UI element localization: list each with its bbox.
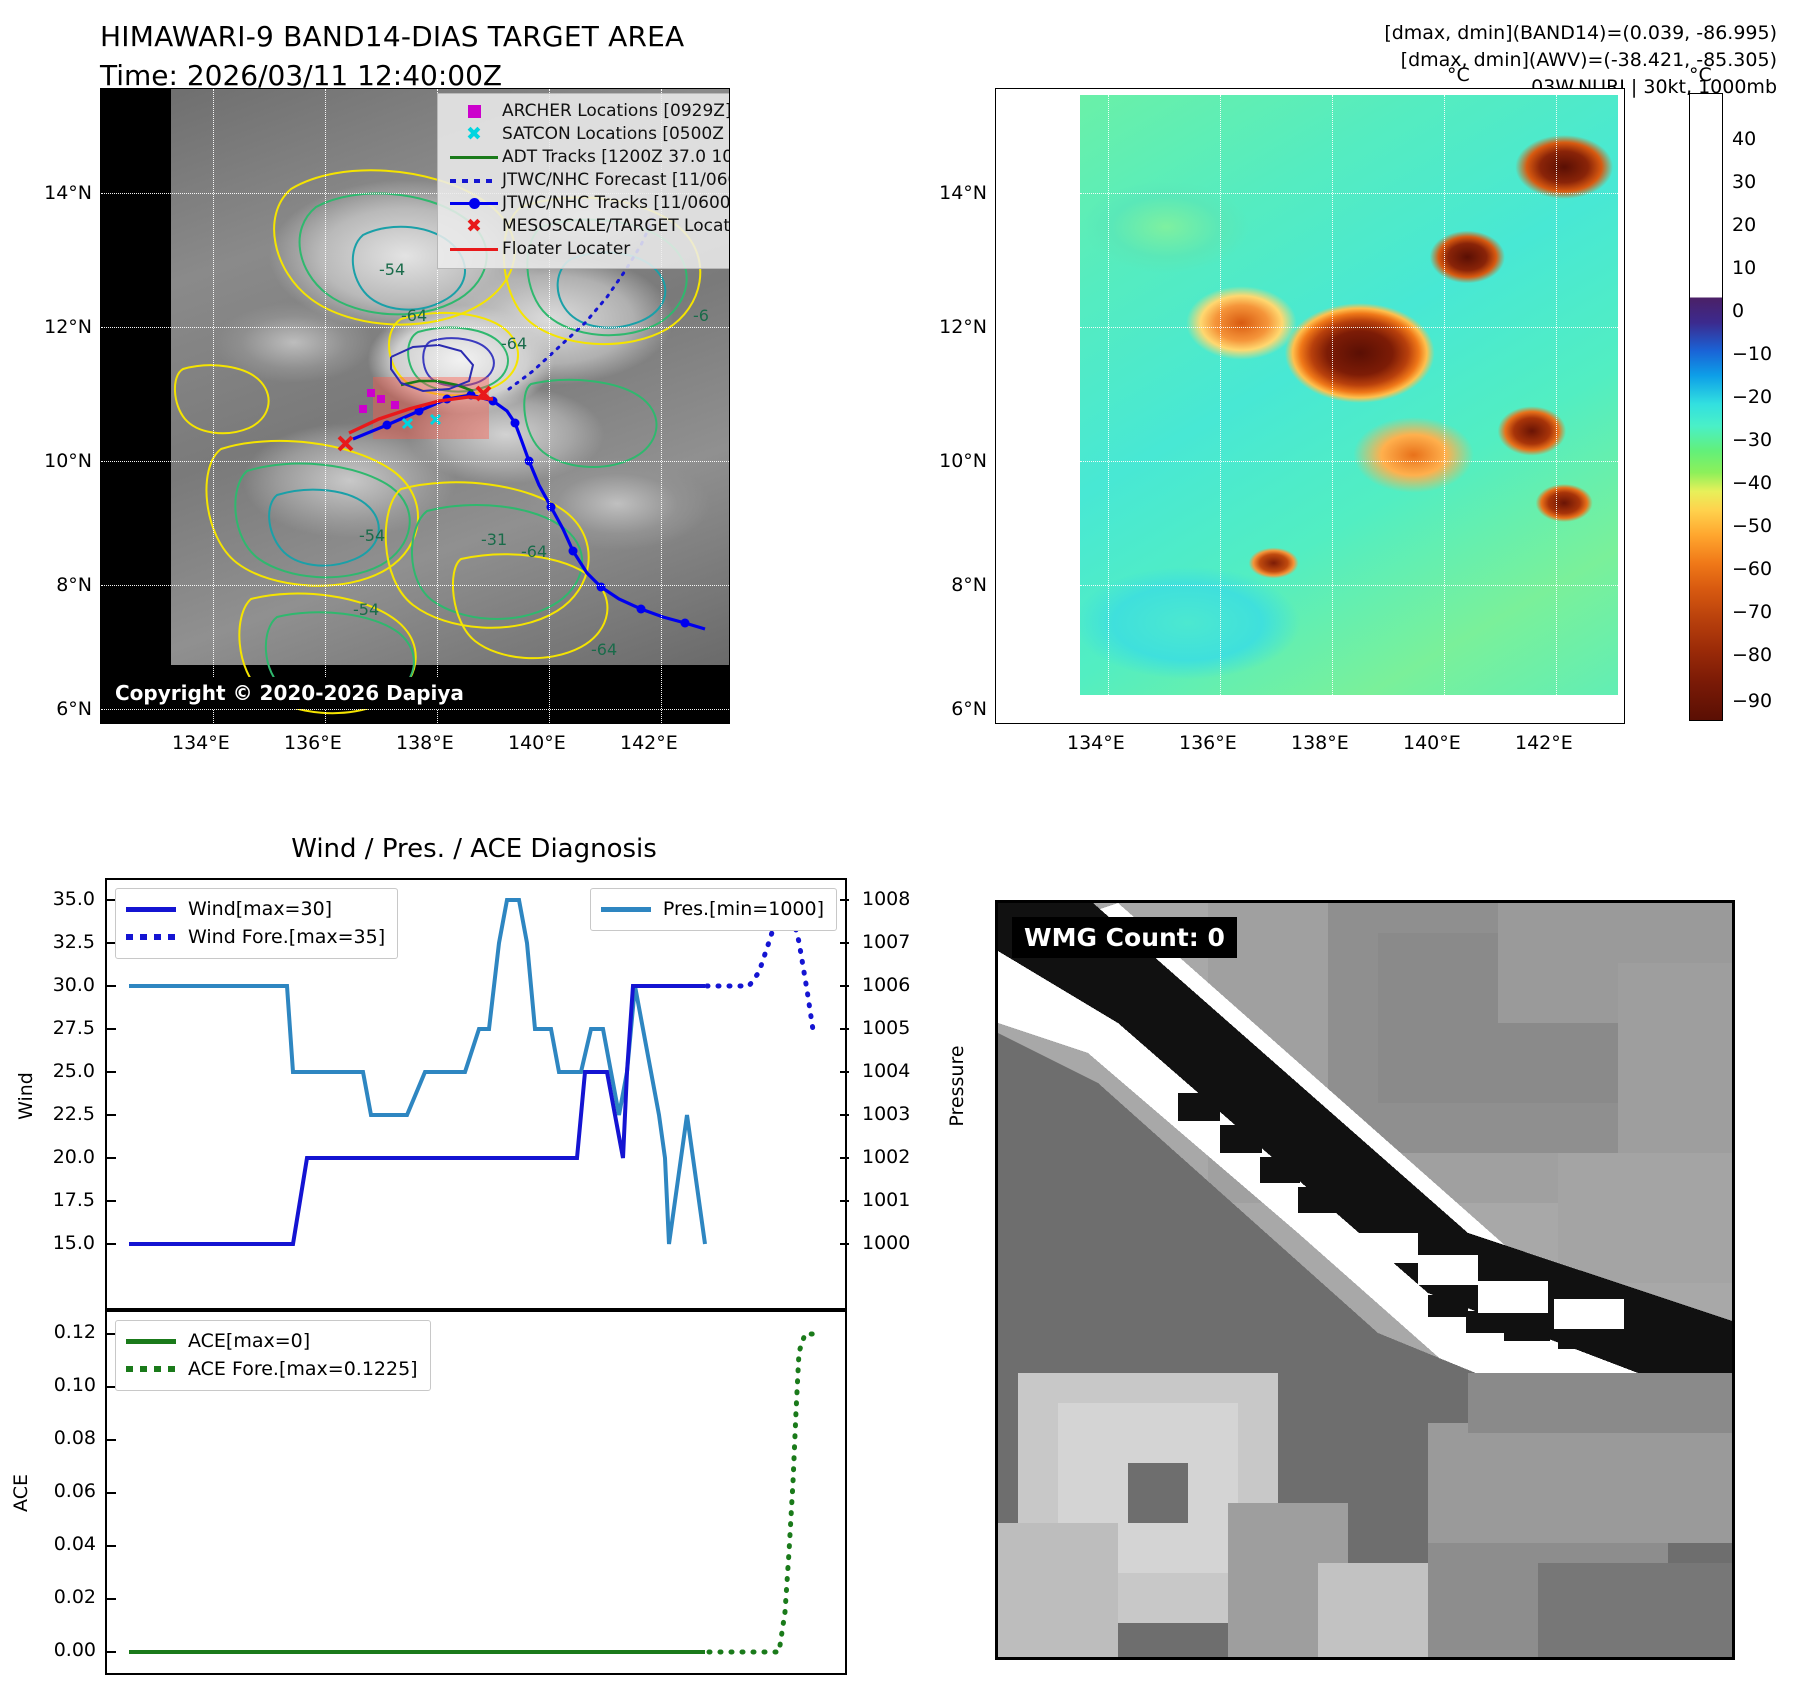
ir-gridline-8n: [101, 585, 729, 586]
legend-item-adt[interactable]: ADT Tracks [1200Z 37.0 1002.7]: [446, 146, 730, 169]
ir-lon-label-136e: 136°E: [284, 732, 342, 754]
pressure-ytick: 1006: [862, 974, 910, 996]
ace-ytick: 0.02: [28, 1586, 96, 1608]
ace-ytick: 0.12: [28, 1321, 96, 1343]
awv-gridline-136e: [1220, 95, 1221, 695]
archer-square-icon: [446, 105, 502, 118]
legend-item-wind[interactable]: Wind[max=30]: [126, 895, 385, 923]
awv-cbar-tick: −50: [1732, 515, 1772, 537]
awv-cbar-tick: −40: [1732, 472, 1772, 494]
wind-ytick: 15.0: [35, 1232, 95, 1254]
wind-legend[interactable]: Wind[max=30] Wind Fore.[max=35]: [115, 888, 398, 959]
legend-label: ACE[max=0]: [188, 1332, 310, 1351]
ace-axis-label: ACE: [10, 1458, 32, 1528]
legend-item-mesoscale[interactable]: ✖ MESOSCALE/TARGET Location: [446, 215, 730, 238]
header-stats-awv: [dmax, dmin](AWV)=(-38.421, -85.305): [1384, 47, 1777, 74]
awv-cbar-tick: 10: [1732, 257, 1756, 279]
legend-label: ACE Fore.[max=0.1225]: [188, 1360, 418, 1379]
wind-line-icon: [126, 907, 188, 912]
awv-gridline-10n: [1080, 461, 1618, 462]
awv-gridline-134e: [1108, 95, 1109, 695]
pressure-axis-label: Pressure: [946, 1041, 968, 1131]
legend-label: Pres.[min=1000]: [663, 900, 824, 919]
awv-lat-label-10n: 10°N: [925, 450, 987, 472]
contour-label: -6: [693, 306, 709, 325]
ace-ytick: 0.10: [28, 1374, 96, 1396]
legend-label: ARCHER Locations [0929Z]: [502, 103, 730, 120]
wind-ytick: 20.0: [35, 1146, 95, 1168]
ir-legend[interactable]: ARCHER Locations [0929Z] ✖ SATCON Locati…: [437, 93, 730, 269]
ace-ytick: 0.00: [28, 1639, 96, 1661]
ir-lat-label-6n: 6°N: [30, 698, 92, 720]
header-stats-band14: [dmax, dmin](BAND14)=(0.039, -86.995): [1384, 20, 1777, 47]
ace-ytick: 0.06: [28, 1480, 96, 1502]
wind-forecast-dotted-icon: [126, 934, 188, 940]
contour-label: -64: [521, 542, 547, 561]
awv-cbar-tick: −80: [1732, 644, 1772, 666]
pressure-ytick: 1008: [862, 888, 910, 910]
wind-ytick: 25.0: [35, 1060, 95, 1082]
satcon-x-icon: ✖: [446, 125, 502, 144]
ir-gridline-10n: [101, 461, 729, 462]
ace-ytick: 0.04: [28, 1533, 96, 1555]
awv-lon-label-138e: 138°E: [1291, 732, 1349, 754]
ace-chart[interactable]: ACE[max=0] ACE Fore.[max=0.1225]: [105, 1310, 847, 1675]
legend-item-jtwc-tracks[interactable]: JTWC/NHC Tracks [11/0600Z]: [446, 192, 730, 215]
pressure-ytick: 1002: [862, 1146, 910, 1168]
legend-label: Wind[max=30]: [188, 900, 332, 919]
ir-lat-label-12n: 12°N: [30, 316, 92, 338]
wind-ytick: 27.5: [35, 1017, 95, 1039]
pressure-ytick: 1003: [862, 1103, 910, 1125]
wind-axis-label: Wind: [15, 1061, 37, 1131]
awv-lat-label-8n: 8°N: [925, 574, 987, 596]
pressure-ytick: 1004: [862, 1060, 910, 1082]
dashboard-root: HIMAWARI-9 BAND14-DIAS TARGET AREA Time:…: [0, 0, 1801, 1690]
page-title: HIMAWARI-9 BAND14-DIAS TARGET AREA Time:…: [100, 20, 684, 92]
wind-pressure-chart[interactable]: Wind[max=30] Wind Fore.[max=35] Pres.[mi…: [105, 878, 847, 1310]
legend-label: MESOSCALE/TARGET Location: [502, 218, 730, 235]
awv-imagery: [1080, 95, 1618, 695]
ace-line-icon: [126, 1339, 188, 1344]
diagnosis-chart-title: Wind / Pres. / ACE Diagnosis: [100, 834, 848, 864]
track-line-dot-icon: [446, 202, 502, 205]
ir-lon-label-140e: 140°E: [508, 732, 566, 754]
awv-gridline-12n: [1080, 327, 1618, 328]
contour-label: -31: [481, 530, 507, 549]
awv-gridline-14n: [1080, 193, 1618, 194]
awv-cbar-tick: −20: [1732, 386, 1772, 408]
ir-gridline-12n: [101, 327, 729, 328]
contour-label: -54: [379, 260, 405, 279]
legend-label: ADT Tracks [1200Z 37.0 1002.7]: [502, 149, 730, 166]
wind-ytick: 32.5: [35, 931, 95, 953]
forecast-dotted-icon: [446, 179, 502, 183]
awv-cbar-tick: −90: [1732, 690, 1772, 712]
contour-label: -64: [401, 306, 427, 325]
awv-colorbar-unit: °C: [1689, 64, 1712, 86]
awv-colorbar: [1689, 93, 1723, 721]
ir-lat-label-10n: 10°N: [30, 450, 92, 472]
legend-label: Wind Fore.[max=35]: [188, 928, 385, 947]
awv-cbar-tick: −30: [1732, 429, 1772, 451]
ir-lon-label-138e: 138°E: [396, 732, 454, 754]
ir-gridline-6n: [101, 709, 729, 710]
awv-lat-label-12n: 12°N: [925, 316, 987, 338]
ir-colorbar-unit: °C: [1447, 64, 1470, 86]
awv-cbar-tick: −10: [1732, 343, 1772, 365]
target-box: [373, 377, 489, 439]
wmg-mosaic-panel[interactable]: WMG Count: 0: [995, 900, 1735, 1660]
contour-label: -64: [501, 334, 527, 353]
ir-lon-label-134e: 134°E: [172, 732, 230, 754]
legend-item-ace[interactable]: ACE[max=0]: [126, 1327, 418, 1355]
mesoscale-x-icon: ✖: [446, 217, 502, 236]
copyright-notice: Copyright © 2020-2026 Dapiya: [107, 677, 472, 709]
awv-satellite-panel[interactable]: [995, 88, 1625, 724]
pressure-ytick: 1007: [862, 931, 910, 953]
awv-cbar-tick: −60: [1732, 558, 1772, 580]
legend-item-ace-forecast[interactable]: ACE Fore.[max=0.1225]: [126, 1355, 418, 1383]
wind-ytick: 22.5: [35, 1103, 95, 1125]
pressure-ytick: 1005: [862, 1017, 910, 1039]
floater-line-icon: [446, 248, 502, 251]
awv-gridline-8n: [1080, 585, 1618, 586]
awv-cbar-tick: −70: [1732, 601, 1772, 623]
contour-label: -64: [591, 640, 617, 659]
wind-ytick: 17.5: [35, 1189, 95, 1211]
legend-label: Floater Locater: [502, 241, 630, 258]
awv-cbar-tick: 0: [1732, 300, 1744, 322]
awv-cbar-tick: 40: [1732, 128, 1756, 150]
awv-cbar-tick: 20: [1732, 214, 1756, 236]
awv-lon-label-136e: 136°E: [1179, 732, 1237, 754]
awv-lat-label-6n: 6°N: [925, 698, 987, 720]
awv-gridline-140e: [1444, 95, 1445, 695]
ir-lat-label-8n: 8°N: [30, 574, 92, 596]
ir-gridline-134e: [213, 89, 214, 723]
awv-gridline-138e: [1332, 95, 1333, 695]
legend-item-archer[interactable]: ARCHER Locations [0929Z]: [446, 100, 730, 123]
awv-lat-label-14n: 14°N: [925, 182, 987, 204]
page-title-line1: HIMAWARI-9 BAND14-DIAS TARGET AREA: [100, 20, 684, 53]
ace-legend[interactable]: ACE[max=0] ACE Fore.[max=0.1225]: [115, 1320, 431, 1391]
ace-ytick: 0.08: [28, 1427, 96, 1449]
pressure-ytick: 1000: [862, 1232, 910, 1254]
legend-item-wind-forecast[interactable]: Wind Fore.[max=35]: [126, 923, 385, 951]
wmg-mosaic: [998, 903, 1735, 1660]
awv-lon-label-140e: 140°E: [1403, 732, 1461, 754]
awv-gridline-142e: [1556, 95, 1557, 695]
ir-lon-label-142e: 142°E: [620, 732, 678, 754]
ir-gridline-136e: [325, 89, 326, 723]
contour-label: -54: [359, 526, 385, 545]
legend-label: JTWC/NHC Tracks [11/0600Z]: [502, 195, 730, 212]
legend-label: SATCON Locations [0500Z 29 1005]: [502, 126, 730, 143]
legend-item-floater[interactable]: Floater Locater: [446, 238, 730, 261]
adt-line-icon: [446, 156, 502, 159]
awv-lon-label-134e: 134°E: [1067, 732, 1125, 754]
ace-forecast-line: [709, 1334, 821, 1652]
pressure-line-icon: [601, 907, 663, 912]
pressure-legend[interactable]: Pres.[min=1000]: [590, 888, 837, 931]
awv-cbar-tick: 30: [1732, 171, 1756, 193]
legend-item-pressure[interactable]: Pres.[min=1000]: [601, 895, 824, 923]
legend-item-satcon[interactable]: ✖ SATCON Locations [0500Z 29 1005]: [446, 123, 730, 146]
legend-item-jtwc-forecast[interactable]: JTWC/NHC Forecast [11/0600Z]: [446, 169, 730, 192]
ir-lat-label-14n: 14°N: [30, 182, 92, 204]
contour-label: -54: [353, 600, 379, 619]
wmg-count-badge: WMG Count: 0: [1012, 917, 1237, 958]
wind-ytick: 35.0: [35, 888, 95, 910]
awv-lon-label-142e: 142°E: [1515, 732, 1573, 754]
legend-label: JTWC/NHC Forecast [11/0600Z]: [502, 172, 730, 189]
ir-satellite-panel[interactable]: -54 -64 -64 -6 -54 -64 -54 -31 -64: [100, 88, 730, 724]
ace-forecast-dotted-icon: [126, 1366, 188, 1372]
pressure-ytick: 1001: [862, 1189, 910, 1211]
wind-ytick: 30.0: [35, 974, 95, 996]
